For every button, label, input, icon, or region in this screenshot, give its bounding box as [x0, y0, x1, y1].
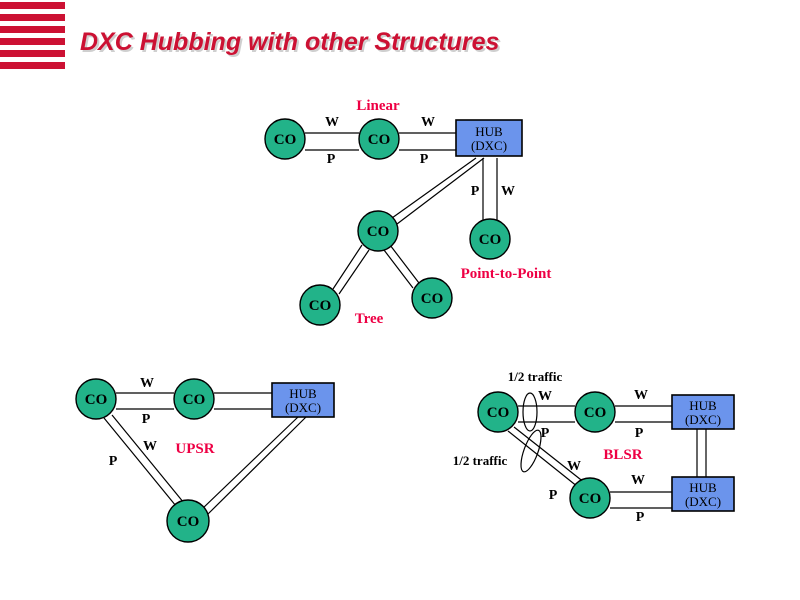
- protection-label: P: [635, 426, 644, 441]
- slide-canvas: DXC Hubbing with other Structures CO CO …: [0, 0, 800, 600]
- link-protection: [112, 415, 184, 503]
- working-label: W: [143, 439, 157, 454]
- co-node-label: CO: [479, 232, 502, 248]
- co-node-label: CO: [487, 405, 510, 421]
- co-node-label: CO: [367, 224, 390, 240]
- half-traffic-ring-icon: [523, 393, 537, 431]
- working-label: W: [567, 459, 581, 474]
- co-node-label: CO: [368, 132, 391, 148]
- link-protection: [208, 417, 306, 514]
- co-node-label: CO: [421, 291, 444, 307]
- blsr-section: CO CO HUB (DXC) CO HUB (DXC) BLSR 1/2 tr…: [453, 369, 734, 518]
- hub-node-label-line1: HUB: [689, 398, 717, 413]
- hub-node-label-line1: HUB: [289, 386, 317, 401]
- co-node-label: CO: [274, 132, 297, 148]
- working-label: W: [634, 388, 648, 403]
- working-label: W: [140, 376, 154, 391]
- working-label: W: [421, 115, 435, 130]
- working-label: W: [501, 184, 515, 199]
- protection-label: P: [471, 184, 480, 199]
- protection-label: P: [142, 412, 151, 427]
- co-node-label: CO: [85, 392, 108, 408]
- link-working: [392, 158, 476, 218]
- section-label-point-to-point: Point-to-Point: [461, 266, 552, 282]
- linear-section: CO CO HUB (DXC) Linear: [265, 98, 522, 224]
- co-node-label: CO: [183, 392, 206, 408]
- half-traffic-label: 1/2 traffic: [508, 369, 563, 384]
- protection-label: P: [420, 152, 429, 167]
- point-to-point-section: CO Point-to-Point: [461, 219, 552, 282]
- link-protection: [514, 427, 585, 483]
- working-label: W: [631, 473, 645, 488]
- section-label-tree: Tree: [355, 311, 384, 327]
- network-topology-diagram: CO CO HUB (DXC) Linear CO CO CO Tree: [0, 0, 800, 600]
- protection-label: P: [636, 510, 645, 525]
- working-label: W: [538, 389, 552, 404]
- protection-label: P: [541, 426, 550, 441]
- protection-label: P: [109, 454, 118, 469]
- hub-node-label-line2: (DXC): [685, 412, 721, 427]
- working-label: W: [325, 115, 339, 130]
- co-node-label: CO: [584, 405, 607, 421]
- tree-section: CO CO CO Tree: [300, 211, 452, 327]
- hub-node-label-line1: HUB: [475, 124, 503, 139]
- hub-node-label-line1: HUB: [689, 480, 717, 495]
- co-node-label: CO: [177, 514, 200, 530]
- hub-node-label-line2: (DXC): [685, 494, 721, 509]
- protection-label: P: [549, 488, 558, 503]
- hub-node-label-line2: (DXC): [471, 138, 507, 153]
- link-working: [202, 417, 298, 509]
- section-label-upsr: UPSR: [175, 441, 214, 457]
- half-traffic-label: 1/2 traffic: [453, 453, 508, 468]
- co-node-label: CO: [579, 491, 602, 507]
- protection-label: P: [327, 152, 336, 167]
- section-label-linear: Linear: [356, 98, 400, 114]
- co-node-label: CO: [309, 298, 332, 314]
- hub-node-label-line2: (DXC): [285, 400, 321, 415]
- section-label-blsr: BLSR: [603, 447, 642, 463]
